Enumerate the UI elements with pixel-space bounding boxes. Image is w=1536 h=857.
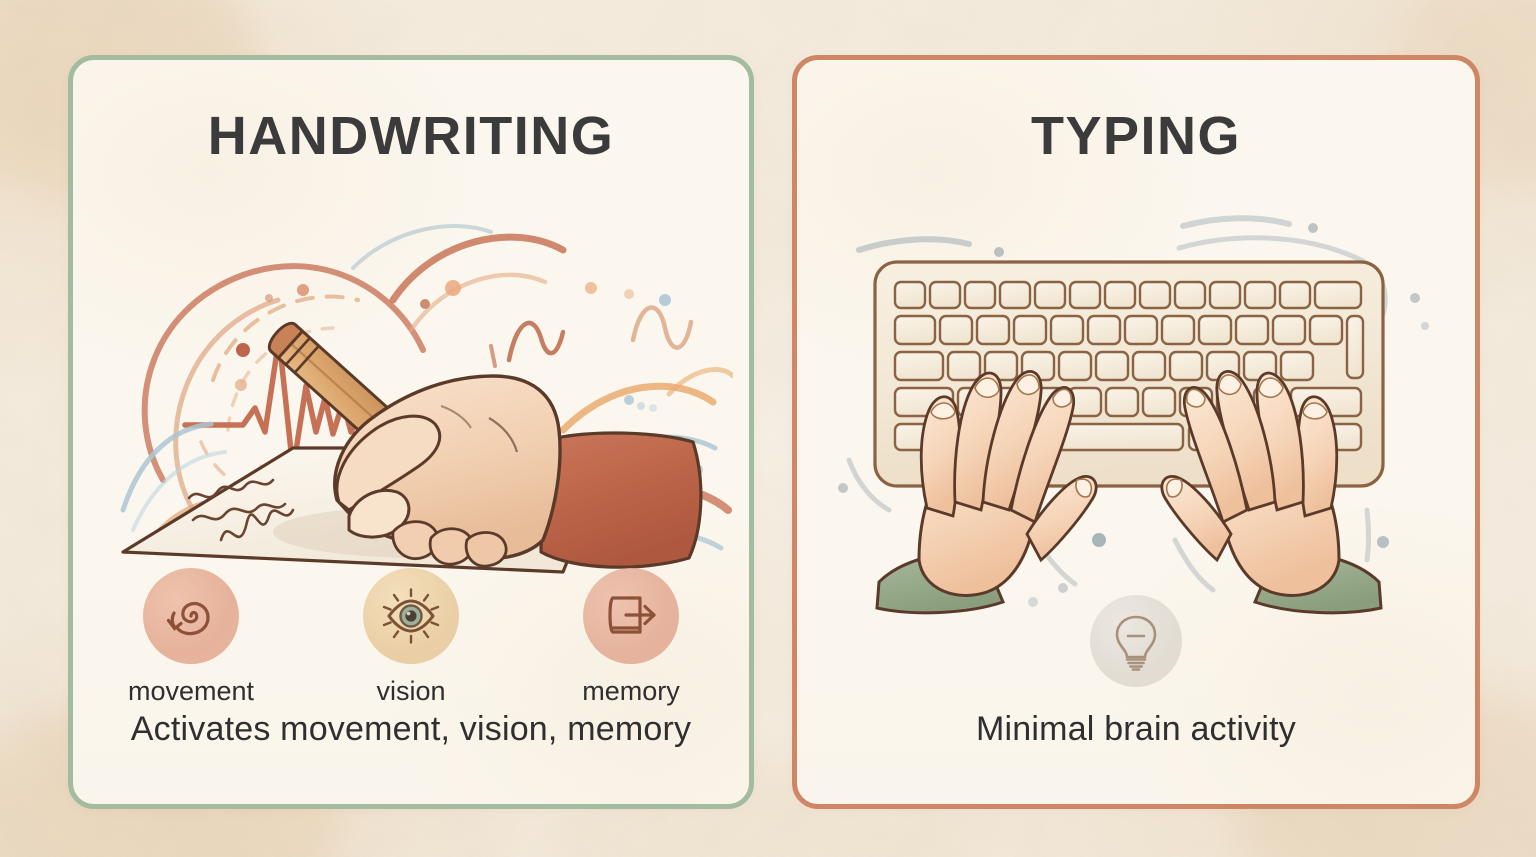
icon-item-memory[interactable]: memory: [551, 568, 711, 707]
brain-function-icon-row: movement: [73, 568, 749, 707]
icon-item-vision[interactable]: vision: [331, 568, 491, 707]
card-typing: TYPING: [792, 55, 1480, 809]
icon-label-movement: movement: [111, 676, 271, 707]
card-handwriting-title: HANDWRITING: [73, 105, 749, 167]
hands-typing-on-keyboard-illustration: [827, 210, 1447, 630]
hand-writing-with-pencil-illustration: [93, 180, 733, 580]
minimal-activity-indicator: [797, 595, 1475, 687]
movement-spiral-icon: [143, 568, 239, 664]
icon-label-memory: memory: [551, 676, 711, 707]
memory-book-arrow-icon: [583, 568, 679, 664]
vision-eye-icon: [363, 568, 459, 664]
minimal-activity-bulb-icon: [1090, 595, 1182, 687]
icon-label-vision: vision: [331, 676, 491, 707]
card-typing-title: TYPING: [797, 105, 1475, 167]
poster-canvas: HANDWRITING: [0, 0, 1536, 857]
card-handwriting-caption: Activates movement, vision, memory: [83, 710, 739, 749]
icon-item-movement[interactable]: movement: [111, 568, 271, 707]
card-handwriting: HANDWRITING: [68, 55, 754, 809]
card-typing-caption: Minimal brain activity: [807, 710, 1465, 749]
